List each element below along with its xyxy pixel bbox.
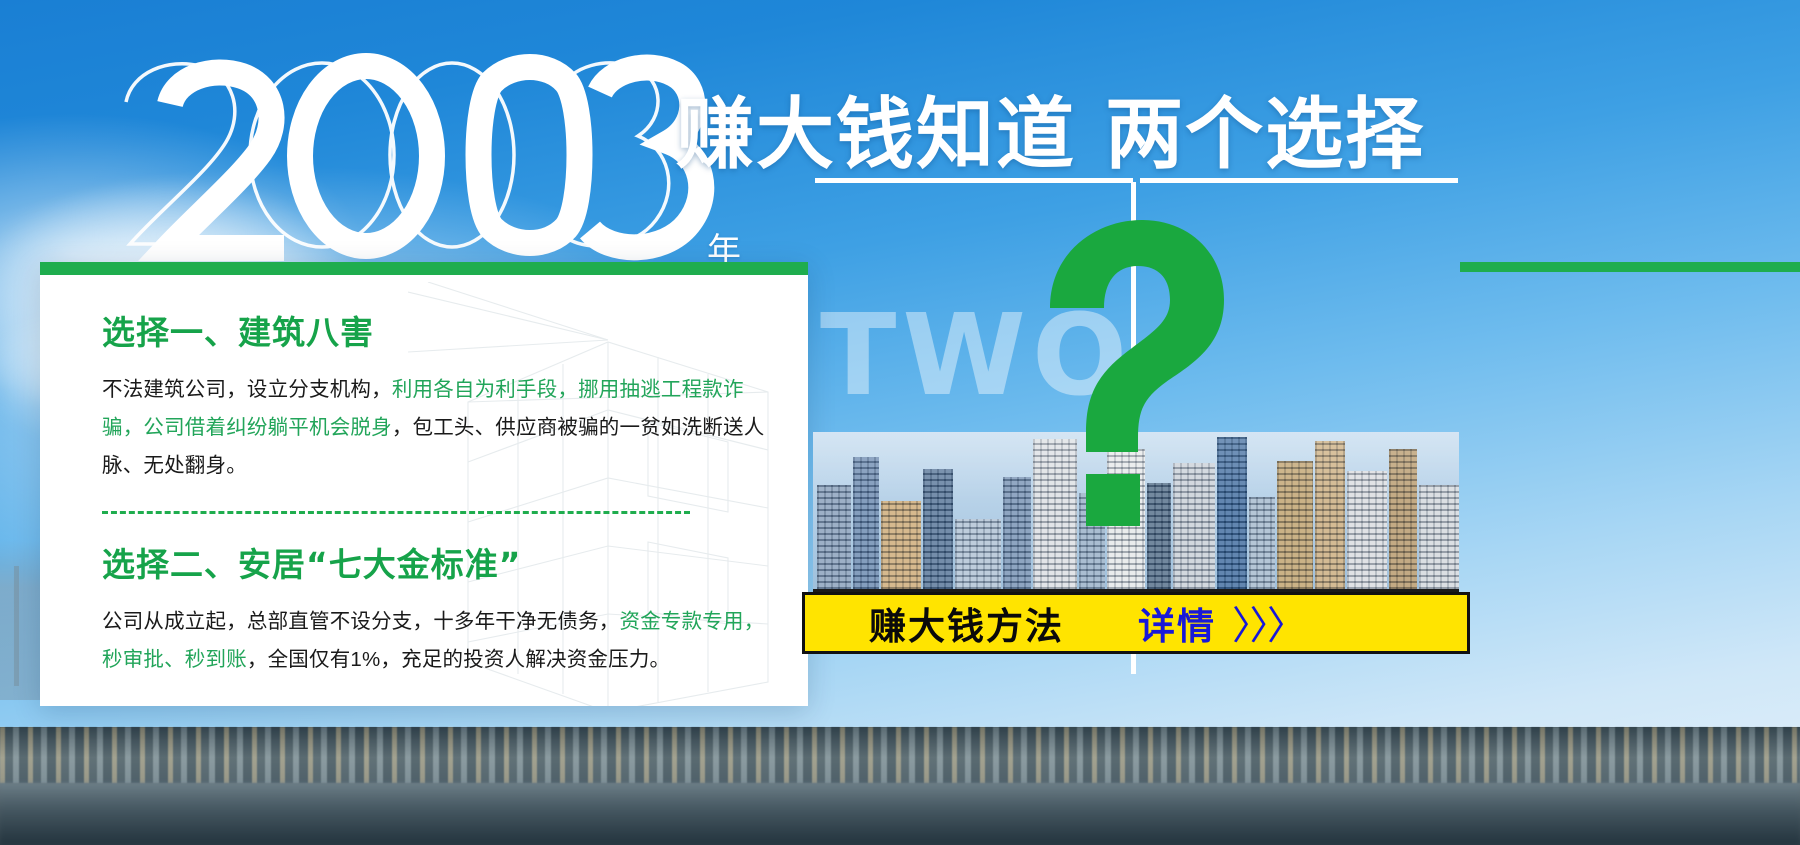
section-one-text-a: 不法建筑公司，设立分支机构， (102, 378, 392, 401)
cta-detail-link[interactable]: 详情 (1138, 596, 1216, 650)
section-one-body: 不法建筑公司，设立分支机构，利用各自为利手段，挪用抽逃工程款诈骗，公司借着纠纷躺… (102, 371, 778, 485)
poster-canvas: 年 赚大钱知道 两个选择 TWO CHOICES (0, 0, 1800, 845)
section-two-text-a: 公司从成立起，总部直管不设分支，十多年干净无债务， (102, 610, 620, 633)
cta-main-label: 赚大钱方法 (869, 596, 1064, 650)
chevron-right-icon: 〉〉〉 (1232, 595, 1304, 651)
section-two-title: 选择二、安居“七大金标准” (102, 538, 778, 586)
city-waterfront-band (0, 727, 1800, 845)
section-two-body: 公司从成立起，总部直管不设分支，十多年干净无债务，资金专款专用，秒审批、秒到账，… (102, 603, 778, 679)
headline-rule-left (815, 178, 1133, 183)
cta-banner[interactable]: 赚大钱方法 详情 〉〉〉 (802, 592, 1470, 654)
section-divider (102, 511, 690, 514)
section-two-text-c: ，全国仅有1%，充足的投资人解决资金压力。 (247, 648, 670, 671)
headline-rule-right (1140, 178, 1458, 183)
content-card: 选择一、建筑八害 不法建筑公司，设立分支机构，利用各自为利手段，挪用抽逃工程款诈… (40, 262, 808, 706)
section-one-title: 选择一、建筑八害 (102, 306, 778, 354)
green-accent-strip (1460, 262, 1800, 272)
page-title: 赚大钱知道 两个选择 (676, 72, 1425, 184)
question-mark-icon (1020, 212, 1230, 542)
